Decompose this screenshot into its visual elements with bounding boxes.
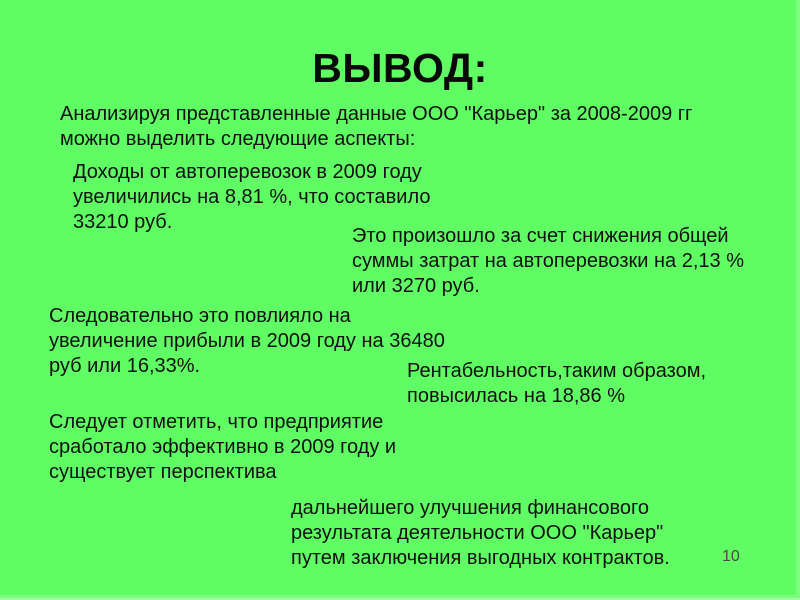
paragraph-cost-reduction: Это произошло за счет снижения общей сум… [352, 224, 752, 299]
paragraph-intro: Анализируя представленные данные ООО "Ка… [60, 102, 750, 152]
paragraph-profitability: Рентабельность,таким образом, повысилась… [407, 359, 767, 409]
paragraph-outlook: дальнейшего улучшения финансового резуль… [291, 496, 721, 571]
presentation-slide: ВЫВОД: Анализируя представленные данные … [0, 0, 800, 600]
slide-title: ВЫВОД: [0, 44, 800, 92]
page-number: 10 [722, 547, 740, 567]
slide-edge-right [796, 0, 800, 600]
paragraph-profit-increase: Следовательно это повлияло на увеличение… [49, 304, 449, 379]
paragraph-effectiveness-note: Следует отметить, что предприятие сработ… [49, 410, 469, 485]
